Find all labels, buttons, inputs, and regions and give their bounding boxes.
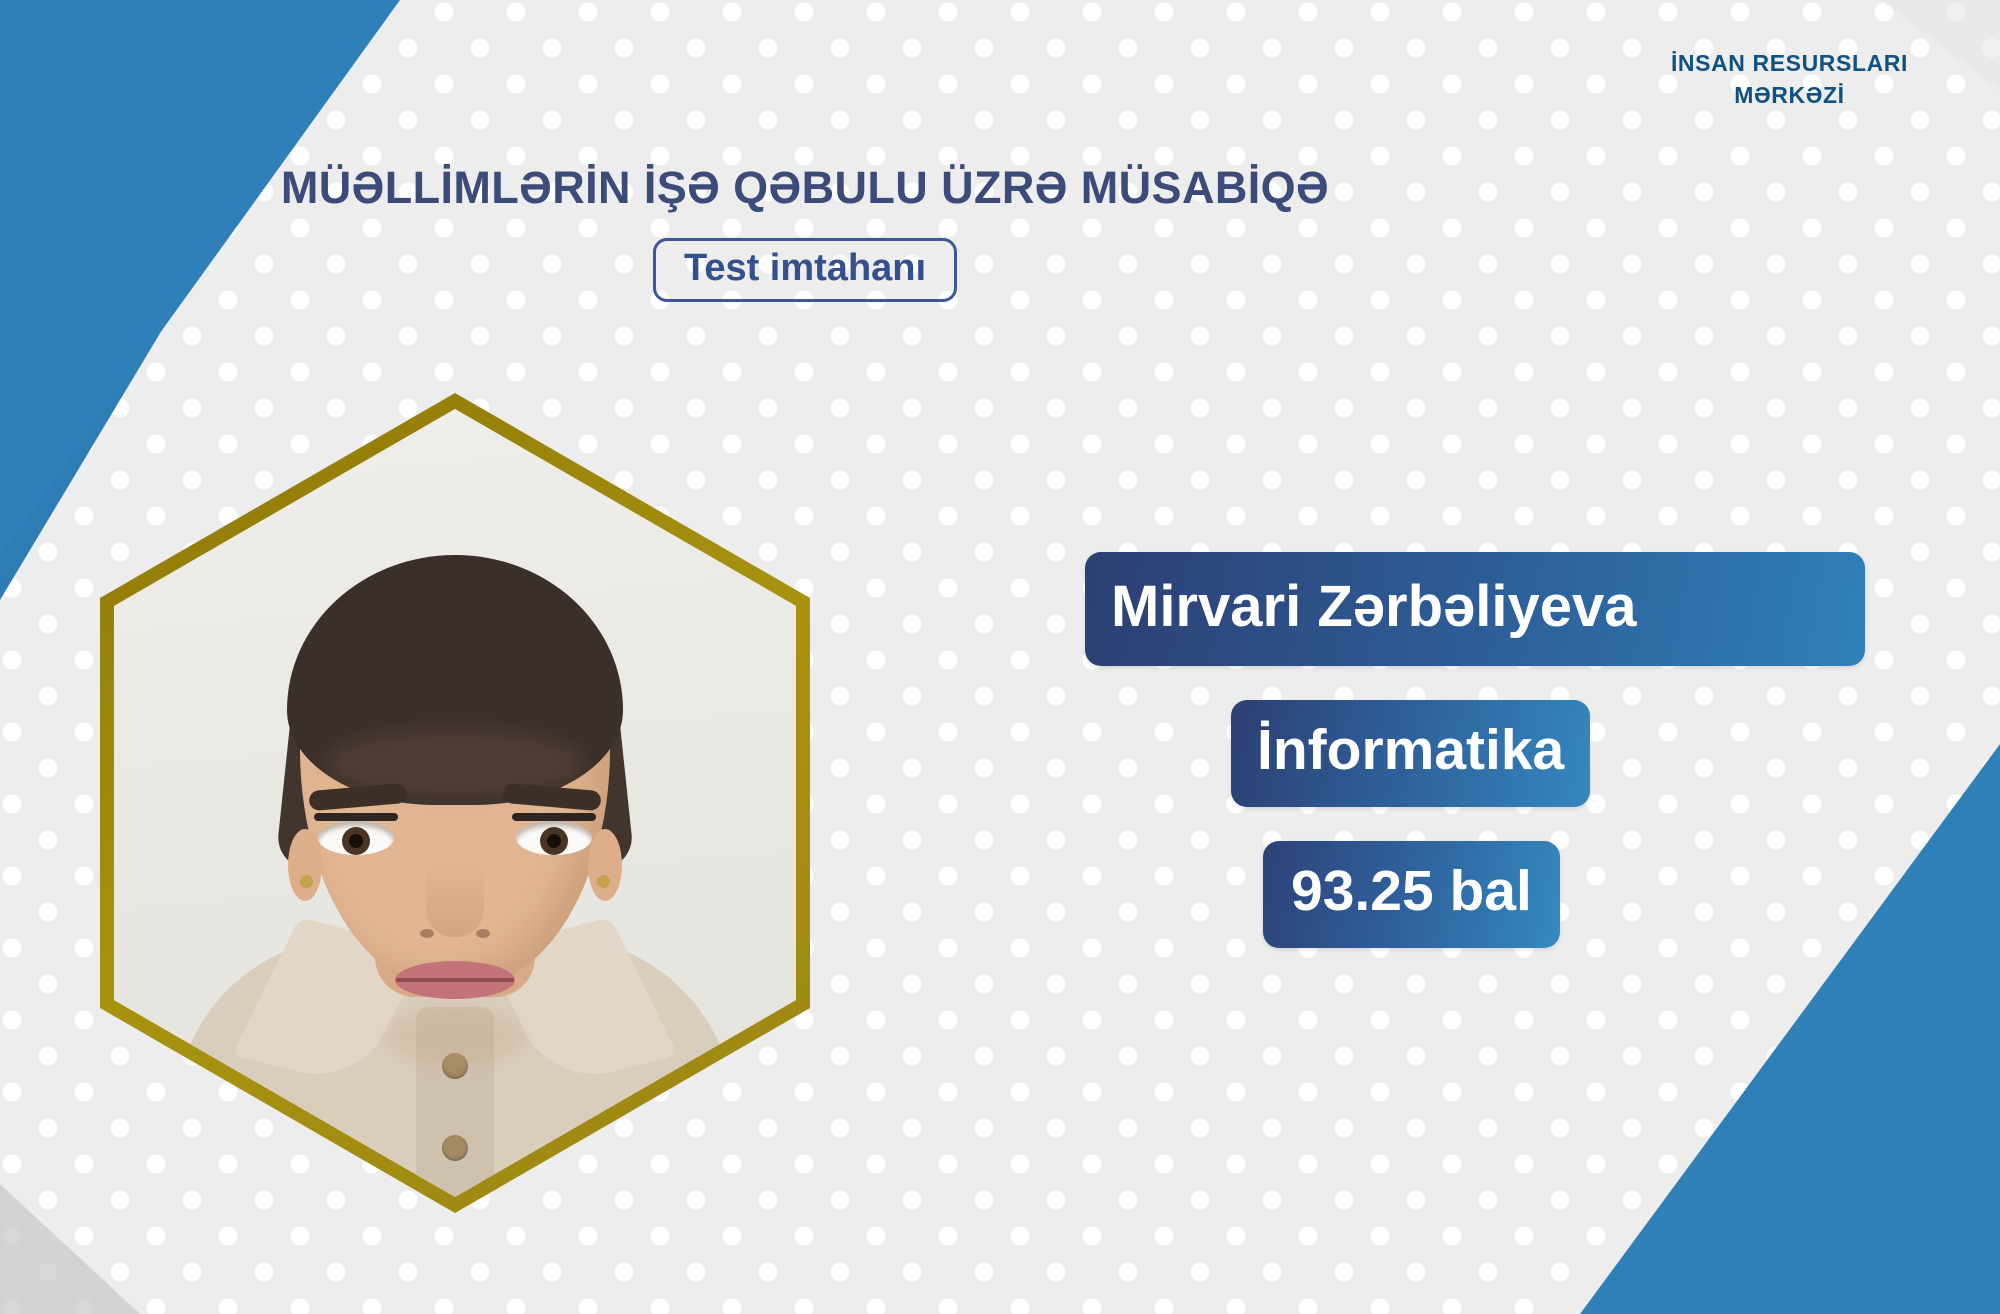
portrait-eye-right xyxy=(516,821,592,855)
portrait-earring-right xyxy=(597,875,610,888)
portrait-chin-shading xyxy=(385,1009,525,1065)
portrait-earring-left xyxy=(300,875,313,888)
candidate-name-badge: Mirvari Zərbəliyeva xyxy=(1085,552,1865,666)
portrait-eyelid-right xyxy=(512,813,596,821)
candidate-subject-badge: İnformatika xyxy=(1231,700,1590,807)
portrait-ear-left xyxy=(288,829,322,901)
portrait-nostril-right xyxy=(476,929,490,938)
portrait-shirt-button xyxy=(442,1135,468,1161)
candidate-score-badge: 93.25 bal xyxy=(1263,841,1560,948)
certificate-card: İNSAN RESURSLARI MƏRKƏZİ MÜƏLLİMLƏRİN İŞ… xyxy=(0,0,2000,1314)
portrait-nostril-left xyxy=(420,929,434,938)
portrait-hexagon xyxy=(100,393,810,1213)
avatar xyxy=(114,409,796,1197)
portrait-pupil-left xyxy=(349,834,363,848)
portrait-eye-left xyxy=(318,821,394,855)
portrait-nose xyxy=(426,861,484,937)
portrait-ear-right xyxy=(588,829,622,901)
portrait-iris-right xyxy=(540,827,568,855)
page-title: MÜƏLLİMLƏRİN İŞƏ QƏBULU ÜZRƏ MÜSABİQƏ xyxy=(0,162,1610,214)
organization-logo: İNSAN RESURSLARI MƏRKƏZİ xyxy=(1671,48,1908,111)
candidate-info-panel: Mirvari Zərbəliyeva İnformatika 93.25 ba… xyxy=(1085,552,1865,948)
exam-type-badge: Test imtahanı xyxy=(653,238,957,302)
portrait-eyelid-left xyxy=(314,813,398,821)
subtitle-container: Test imtahanı xyxy=(0,238,1610,302)
portrait-lip-line xyxy=(396,978,514,982)
logo-line-1: İNSAN RESURSLARI xyxy=(1671,48,1908,80)
portrait-iris-left xyxy=(342,827,370,855)
hexagon-photo-clip xyxy=(114,409,796,1197)
logo-line-2: MƏRKƏZİ xyxy=(1671,80,1908,112)
portrait-pupil-right xyxy=(547,834,561,848)
